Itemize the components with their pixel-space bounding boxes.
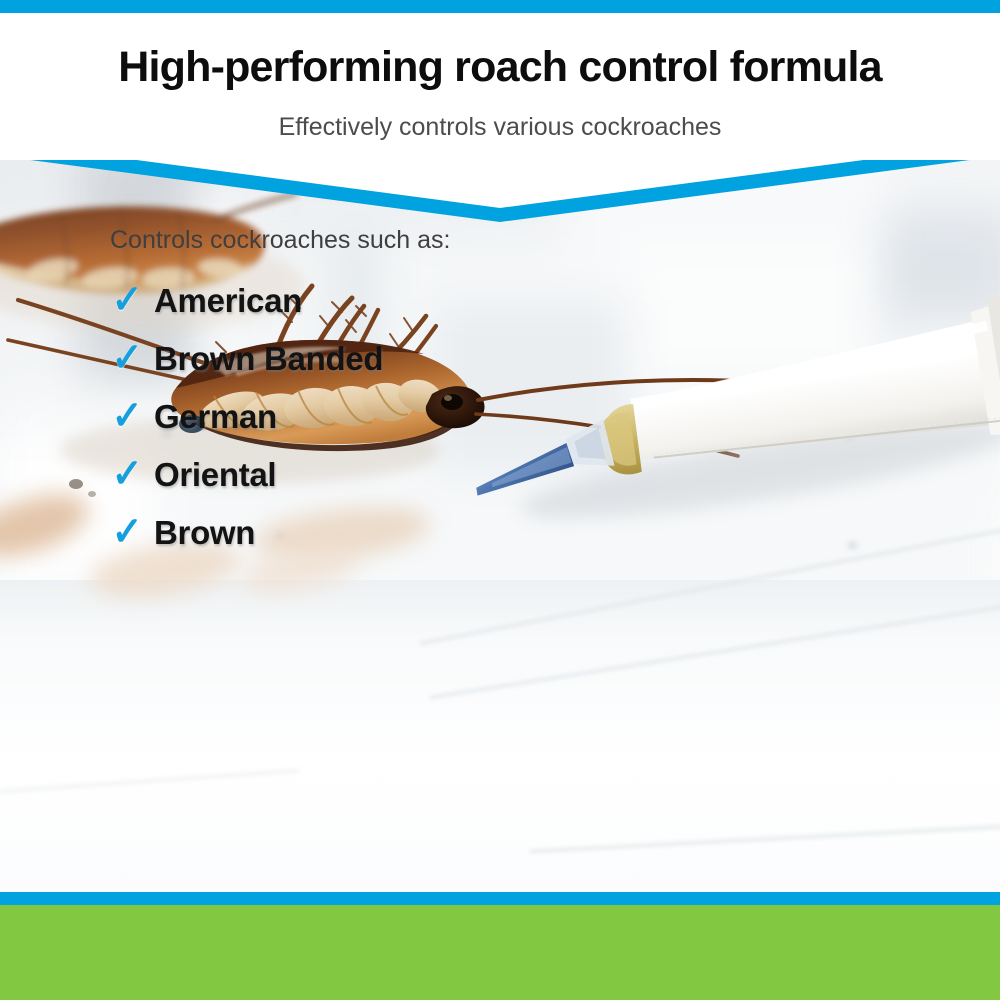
list-item: ✓ American [110,278,302,322]
footer-green-block [0,905,1000,1000]
list-item-label: Oriental [154,458,276,491]
list-item: ✓ Brown [110,510,255,554]
check-icon: ✓ [112,512,152,552]
check-icon: ✓ [112,280,152,320]
list-item-label: German [154,400,277,433]
list-item-label: Brown [154,516,255,549]
list-item: ✓ Brown Banded [110,336,383,380]
header-band: High-performing roach control formula Ef… [0,13,1000,160]
check-icon: ✓ [112,454,152,494]
list-item: ✓ German [110,394,277,438]
list-item-label: American [154,284,302,317]
bottom-accent-bar [0,892,1000,905]
checklist-heading: Controls cockroaches such as: [110,228,450,253]
product-infographic: High-performing roach control formula Ef… [0,0,1000,1000]
check-icon: ✓ [112,338,152,378]
page-subtitle: Effectively controls various cockroaches [0,115,1000,140]
top-accent-bar [0,0,1000,13]
list-item: ✓ Oriental [110,452,276,496]
list-item-label: Brown Banded [154,342,383,375]
check-icon: ✓ [112,396,152,436]
page-title: High-performing roach control formula [0,46,1000,89]
